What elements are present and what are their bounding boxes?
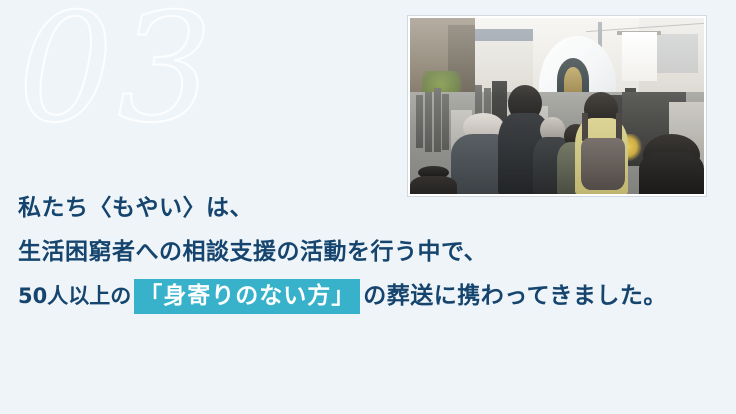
copy-line-3-suffix: の葬送に携わってきました。 (363, 283, 667, 309)
photo-backpack-strap (582, 113, 588, 141)
copy-line-3-highlight: 「身寄りのない方」 (134, 279, 360, 314)
photo-white-banner (622, 32, 657, 81)
section-number-watermark: 03 (18, 0, 217, 144)
copy-line-3-prefix: 50人以上の (18, 284, 131, 308)
copy-line-3: 50人以上の「身寄りのない方」の葬送に携わってきました。 (18, 274, 724, 318)
copy-line-2: 生活困窮者への相談支援の活動を行う中で、 (18, 230, 724, 274)
photo-gravestone (416, 95, 423, 148)
copy-line-1: 私たち〈もやい〉は、 (18, 186, 724, 230)
photo-gravestone (425, 92, 432, 152)
photo-gravestone (442, 94, 449, 150)
body-copy: 私たち〈もやい〉は、 生活困窮者への相談支援の活動を行う中で、 50人以上の「身… (18, 186, 724, 318)
photo-frame (408, 16, 706, 196)
photo-gravestone (434, 88, 441, 151)
slide-canvas: 03 (0, 0, 736, 414)
photo-backpack-strap (616, 113, 622, 141)
photo-house-roof (469, 29, 534, 41)
cemetery-memorial-photo (410, 18, 704, 194)
photo-right-building-window (651, 34, 698, 73)
photo-backpack (581, 138, 625, 191)
